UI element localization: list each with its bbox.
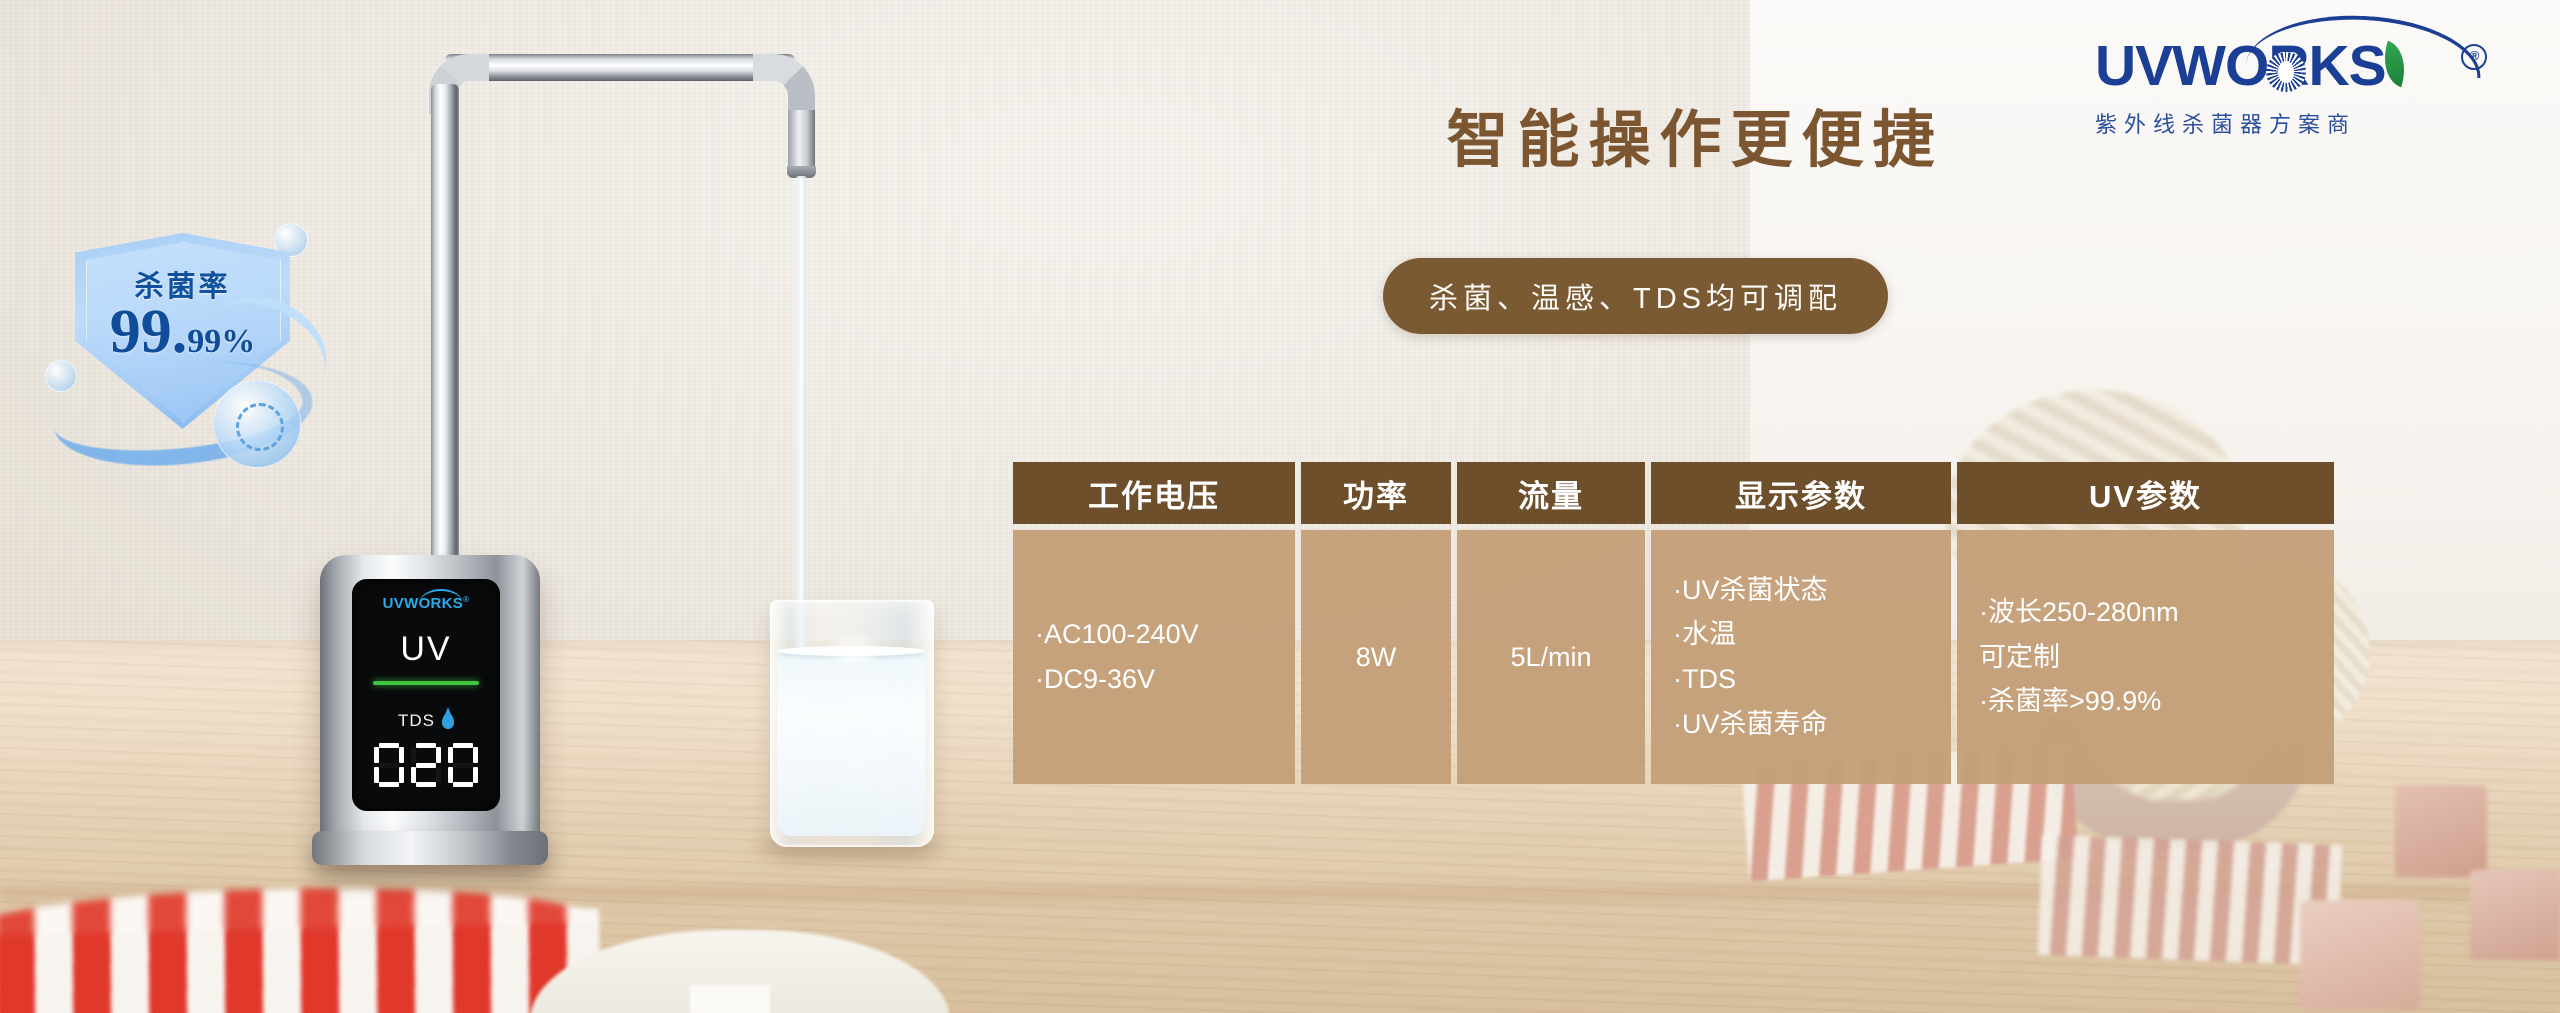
spec-cell-display: ·UV杀菌状态 ·水温 ·TDS ·UV杀菌寿命 (1651, 530, 1951, 784)
block-decor-3 (2300, 900, 2420, 1010)
screen-tds-label: TDS (398, 711, 435, 731)
logo-wordmark: UVWORKS ® (2095, 38, 2495, 95)
segment-digit (448, 743, 478, 787)
badge-value-main: 99 (110, 298, 172, 366)
faucet-downspout (788, 110, 815, 172)
logo-registered-mark: ® (2461, 44, 2487, 70)
glass-body (770, 600, 934, 847)
faucet-vertical-stem (431, 84, 459, 614)
spec-line: ·AC100-240V (1035, 612, 1199, 657)
screen-tds-seven-segment-display (374, 743, 478, 787)
screen-logo-registered-mark: ® (463, 595, 469, 604)
spec-header-flow: 流量 (1457, 462, 1645, 524)
screen-mode-label: UV (400, 630, 451, 669)
uv-sterilizer-device: UVWORKS® UV TDS (320, 555, 540, 865)
water-drop-icon (442, 713, 454, 729)
logo-tagline: 紫外线杀菌器方案商 (2095, 107, 2495, 139)
device-display-screen[interactable]: UVWORKS® UV TDS (352, 579, 500, 811)
screen-brand-logo: UVWORKS® (383, 595, 470, 612)
spec-header-uv: UV参数 (1957, 462, 2334, 524)
spec-line: ·TDS (1673, 657, 1736, 702)
bowl-decor-square (690, 985, 770, 1013)
badge-value-dot: . (172, 298, 188, 366)
spec-header-voltage: 工作电压 (1013, 462, 1295, 524)
spec-line: ·杀菌率>99.9% (1979, 679, 2161, 724)
brand-logo[interactable]: UVWORKS ® 紫外线杀菌器方案商 (2095, 38, 2495, 158)
block-decor-1 (2395, 785, 2487, 877)
screen-status-bar (373, 681, 479, 685)
segment-digit (411, 743, 441, 787)
page-title: 智能操作更便捷 (1375, 110, 2015, 172)
faucet (415, 40, 835, 610)
spec-cell-power: 8W (1301, 530, 1451, 784)
spec-line: ·UV杀菌寿命 (1673, 702, 1828, 747)
badge-value: 99.99% (75, 301, 290, 363)
spec-cell-uv: ·波长250-280nm 可定制 ·杀菌率>99.9% (1957, 530, 2334, 784)
logo-sunburst-icon (2266, 52, 2306, 92)
spec-header-display: 显示参数 (1651, 462, 1951, 524)
screen-logo-arc-icon (419, 589, 463, 604)
red-white-cloth-decor (0, 908, 601, 1013)
spec-line: ·UV杀菌状态 (1673, 568, 1828, 613)
spec-cell-flow: 5L/min (1457, 530, 1645, 784)
spec-cell-voltage: ·AC100-240V ·DC9-36V (1013, 530, 1295, 784)
spec-line: ·水温 (1673, 612, 1736, 657)
device-base (312, 831, 548, 865)
faucet-horizontal-arm (445, 54, 795, 81)
block-decor-2 (2470, 870, 2560, 960)
banner-stage: UVWORKS® UV TDS (0, 0, 2560, 1013)
water-glass (770, 600, 930, 850)
badge-value-decimal: 99% (187, 323, 255, 360)
glass-water-fill (777, 650, 925, 836)
segment-digit (374, 743, 404, 787)
spec-line: 可定制 (1979, 635, 2060, 680)
spec-table: 工作电压 功率 流量 显示参数 UV参数 ·AC100-240V ·DC9-36… (1013, 462, 2310, 784)
spec-line: ·DC9-36V (1035, 657, 1155, 702)
screen-tds-row: TDS (398, 711, 454, 731)
subtitle-pill: 杀菌、温感、TDS均可调配 (1383, 258, 1888, 334)
water-stream (795, 176, 808, 662)
bubble-icon (45, 360, 77, 392)
sterilization-rate-badge: 杀菌率 99.99% (45, 215, 345, 445)
spec-header-power: 功率 (1301, 462, 1451, 524)
striped-cloth-decor-2 (2038, 835, 2342, 965)
spec-line: ·波长250-280nm (1979, 590, 2179, 635)
germ-icon (213, 380, 301, 468)
water-splash (822, 630, 884, 662)
spec-line: 5L/min (1510, 635, 1591, 680)
spec-line: 8W (1356, 635, 1397, 680)
